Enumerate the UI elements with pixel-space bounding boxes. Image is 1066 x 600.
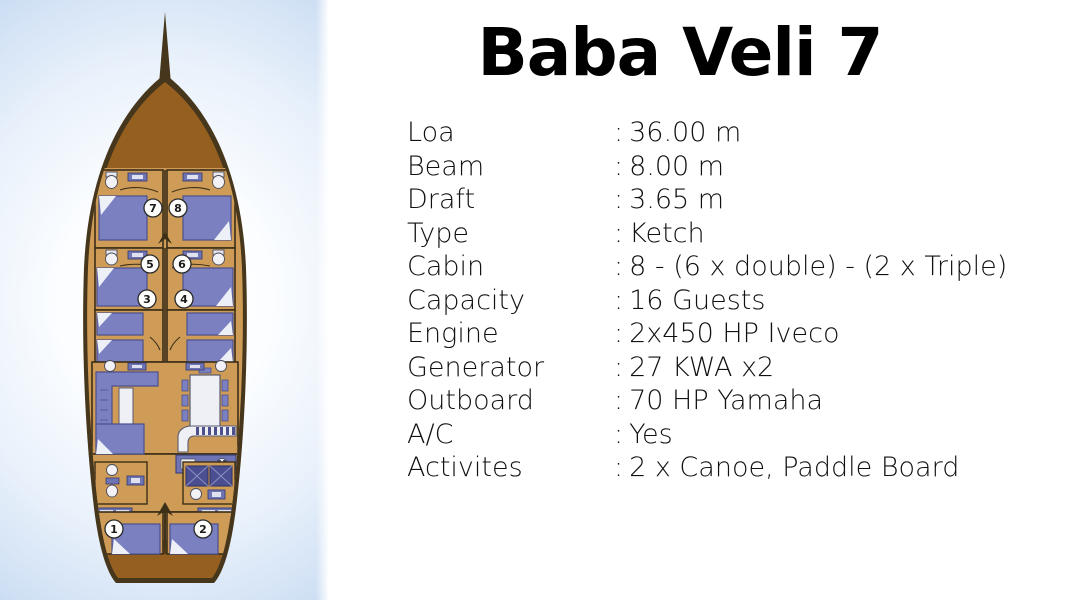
spec-value-text: Ketch (629, 218, 705, 249)
svg-text:3: 3 (143, 293, 151, 306)
spec-row-loa: Loa :36.00 m (407, 118, 1057, 152)
toilet-icon (213, 250, 225, 265)
spec-separator: : (614, 385, 623, 416)
spec-label: Type (407, 219, 614, 249)
toilet-icon (106, 172, 118, 189)
spec-separator: : (614, 151, 623, 182)
spec-separator: : (614, 251, 623, 282)
spec-separator: : (614, 352, 623, 383)
spec-separator: : (614, 318, 623, 349)
cabin-badge-8: 8 (169, 199, 187, 217)
cabin-badge-3: 3 (138, 290, 156, 308)
specifications-list: Loa :36.00 m Beam :8.00 m Draft :3.65 m … (407, 118, 1057, 487)
cabin-3 (95, 310, 163, 362)
spec-value-text: 3.65 m (629, 184, 724, 215)
spec-value-text: 2 x Canoe, Paddle Board (629, 452, 959, 483)
toilet-icon (216, 361, 227, 372)
spec-separator: : (614, 184, 623, 215)
spec-value: :Ketch (614, 219, 705, 249)
sink-icon (183, 173, 202, 181)
spec-label: Loa (407, 118, 614, 148)
sink-icon (128, 173, 147, 181)
svg-text:7: 7 (149, 202, 157, 215)
spec-separator: : (614, 117, 623, 148)
bathroom-port (95, 462, 147, 504)
spec-row-engine: Engine :2x450 HP Iveco (407, 319, 1057, 353)
spec-value-text: 16 Guests (629, 285, 765, 316)
spec-value-text: 8.00 m (629, 151, 724, 182)
cabin-4 (167, 310, 235, 362)
spec-value-text: 2x450 HP Iveco (629, 318, 839, 349)
bathroom-starboard (183, 462, 235, 504)
toilet-icon (106, 250, 118, 265)
spec-value: :2 x Canoe, Paddle Board (614, 453, 959, 483)
svg-text:1: 1 (110, 523, 118, 536)
specifications-panel: Baba Veli 7 Loa :36.00 m Beam :8.00 m Dr… (330, 0, 1066, 600)
spec-value-text: 27 KWA x2 (629, 352, 774, 383)
spec-value-text: Yes (629, 419, 673, 450)
spec-row-cabin: Cabin :8 - (6 x double) - (2 x Triple) (407, 252, 1057, 286)
svg-text:5: 5 (146, 258, 154, 271)
spec-value: :Yes (614, 420, 673, 450)
spec-value: :16 Guests (614, 286, 765, 316)
spec-label: Draft (407, 185, 614, 215)
spec-value: :36.00 m (614, 118, 741, 148)
page-title: Baba Veli 7 (330, 14, 1030, 91)
svg-text:2: 2 (199, 523, 207, 536)
yacht-deck-plan-graphic: 7 8 5 6 3 4 1 2 (0, 0, 330, 600)
spec-row-type: Type :Ketch (407, 219, 1057, 253)
svg-text:4: 4 (180, 293, 188, 306)
svg-text:8: 8 (174, 202, 182, 215)
sink-icon (128, 363, 146, 370)
poster-root: 7 8 5 6 3 4 1 2 Baba Veli 7 Loa :36.00 m… (0, 0, 1066, 600)
spec-value: :3.65 m (614, 185, 724, 215)
spec-row-beam: Beam :8.00 m (407, 152, 1057, 186)
spec-value: :70 HP Yamaha (614, 386, 823, 416)
spec-label: Engine (407, 319, 614, 349)
spec-row-activites: Activites :2 x Canoe, Paddle Board (407, 453, 1057, 487)
spec-value-text: 8 - (6 x double) - (2 x Triple) (629, 251, 1007, 282)
spec-value: :2x450 HP Iveco (614, 319, 839, 349)
spec-label: Cabin (407, 252, 614, 282)
spec-value: :27 KWA x2 (614, 353, 774, 383)
spec-row-generator: Generator :27 KWA x2 (407, 353, 1057, 387)
deck-plan-panel: 7 8 5 6 3 4 1 2 (0, 0, 330, 600)
spec-separator: : (614, 419, 623, 450)
svg-text:6: 6 (178, 258, 186, 271)
cabin-badge-7: 7 (144, 199, 162, 217)
spec-row-outboard: Outboard :70 HP Yamaha (407, 386, 1057, 420)
toilet-icon (213, 172, 225, 189)
cabin-badge-6: 6 (173, 255, 191, 273)
spec-label: A/C (407, 420, 614, 450)
spec-label: Capacity (407, 286, 614, 316)
spec-value-text: 36.00 m (629, 117, 741, 148)
spec-label: Beam (407, 152, 614, 182)
deck-interior (80, 168, 250, 585)
toilet-icon (105, 361, 116, 372)
cabin-badge-1: 1 (105, 520, 123, 538)
spec-separator: : (614, 452, 623, 483)
spec-label: Outboard (407, 386, 614, 416)
spec-label: Activites (407, 453, 614, 483)
spec-value: :8.00 m (614, 152, 724, 182)
cabin-badge-4: 4 (175, 290, 193, 308)
spec-label: Generator (407, 353, 614, 383)
spec-value-text: 70 HP Yamaha (629, 385, 823, 416)
spec-row-ac: A/C :Yes (407, 420, 1057, 454)
cabin-badge-5: 5 (141, 255, 159, 273)
spec-row-draft: Draft :3.65 m (407, 185, 1057, 219)
spec-value: :8 - (6 x double) - (2 x Triple) (614, 252, 1007, 282)
spec-separator: : (614, 285, 623, 316)
spec-separator: : (614, 218, 623, 249)
sink-icon (186, 363, 204, 370)
spec-row-capacity: Capacity :16 Guests (407, 286, 1057, 320)
cabin-badge-2: 2 (194, 520, 212, 538)
